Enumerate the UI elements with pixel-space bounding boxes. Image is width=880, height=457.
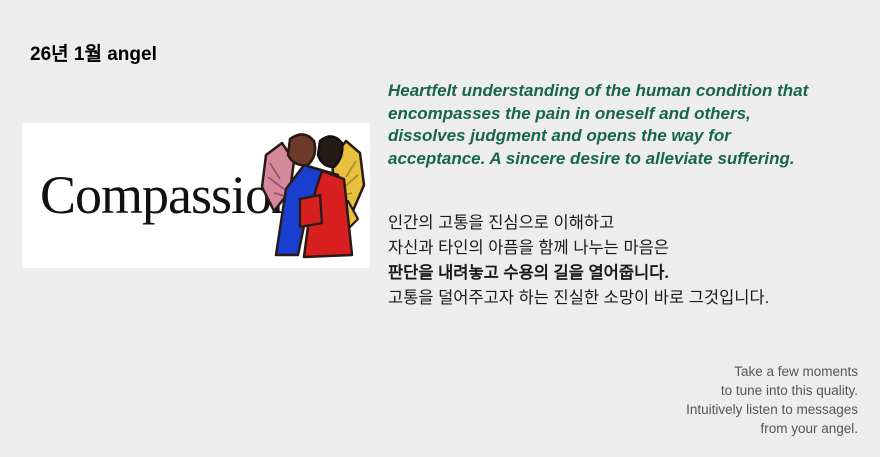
english-line: dissolves judgment and opens the way for <box>388 125 866 148</box>
korean-line: 고통을 덜어주고자 하는 진실한 소망이 바로 그것입니다. <box>388 286 866 311</box>
english-line: Heartfelt understanding of the human con… <box>388 80 866 103</box>
footer-note-line: to tune into this quality. <box>438 381 858 400</box>
english-line: encompasses the pain in oneself and othe… <box>388 103 866 126</box>
footer-note-line: Intuitively listen to messages <box>438 400 858 419</box>
korean-description: 인간의 고통을 진심으로 이해하고 자신과 타인의 아픔을 함께 나누는 마음은… <box>388 211 866 311</box>
footer-note-line: Take a few moments <box>438 362 858 381</box>
page-title: 26년 1월 angel <box>30 39 157 66</box>
english-description: Heartfelt understanding of the human con… <box>388 80 866 170</box>
english-line: acceptance. A sincere desire to alleviat… <box>388 148 866 171</box>
compassion-image-card: Compassion <box>22 123 370 268</box>
two-angels-illustration <box>260 127 366 263</box>
footer-note: Take a few moments to tune into this qua… <box>438 362 858 438</box>
footer-note-line: from your angel. <box>438 419 858 438</box>
korean-line: 자신과 타인의 아픔을 함께 나누는 마음은 <box>388 236 866 261</box>
korean-line: 인간의 고통을 진심으로 이해하고 <box>388 211 866 236</box>
compassion-wordmark: Compassion <box>40 167 297 223</box>
korean-line-emphasis: 판단을 내려놓고 수용의 길을 열어줍니다. <box>388 261 866 286</box>
